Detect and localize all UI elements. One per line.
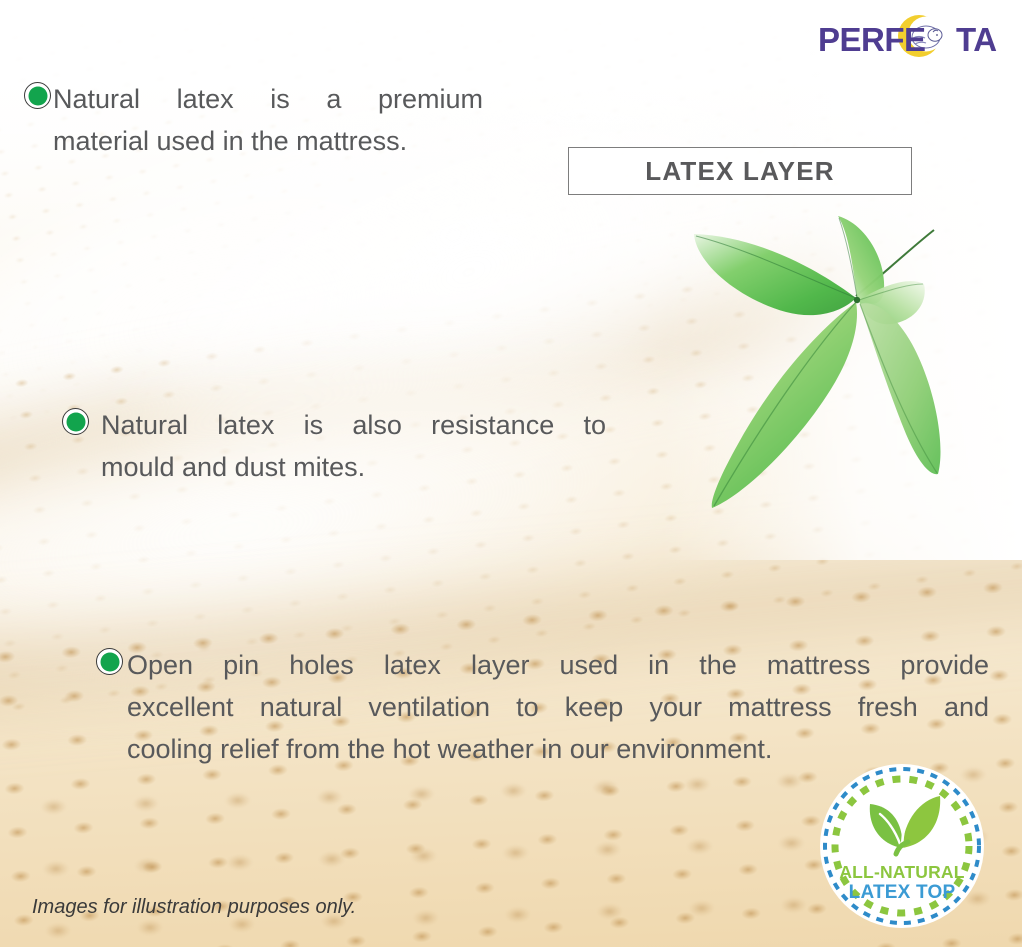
- all-natural-latex-top-seal: ALL-NATURAL LATEX TOP: [818, 762, 986, 930]
- seal-line-1: ALL-NATURAL: [839, 862, 964, 882]
- latex-layer-title-box: LATEX LAYER: [568, 147, 912, 195]
- seal-line-2: LATEX TOP: [849, 882, 956, 903]
- perfecta-logo: PERFE TA: [816, 14, 1006, 70]
- bullet-3-line-1: Open pin holes latex layer used in the m…: [127, 644, 989, 686]
- bullet-3-text: Open pin holes latex layer used in the m…: [127, 644, 989, 770]
- green-dot-bullet-icon: [24, 82, 51, 109]
- bullet-1-line-2: material used in the mattress.: [53, 120, 483, 162]
- disclaimer-text: Images for illustration purposes only.: [32, 896, 356, 919]
- bullet-item-1: Natural latex is a premium material used…: [24, 78, 502, 162]
- logo-wordmark-right: TA: [956, 21, 997, 58]
- bullet-3-line-2: excellent natural ventilation to keep yo…: [127, 686, 989, 728]
- bullet-2-line-1: Natural latex is also resistance to: [101, 404, 606, 446]
- green-dot-bullet-icon: [62, 408, 89, 435]
- bullet-item-3: Open pin holes latex layer used in the m…: [96, 644, 996, 770]
- page-title: LATEX LAYER: [645, 156, 834, 187]
- bullet-1-text: Natural latex is a premium material used…: [53, 78, 483, 162]
- bullet-item-2: Natural latex is also resistance to moul…: [62, 404, 622, 488]
- bullet-2-line-2: mould and dust mites.: [101, 446, 606, 488]
- right-white-fade: [662, 0, 1022, 560]
- logo-wordmark-left: PERFE: [818, 21, 926, 58]
- green-dot-bullet-icon: [96, 648, 123, 675]
- bullet-2-text: Natural latex is also resistance to moul…: [101, 404, 606, 488]
- latex-layer-poster: PERFE TA LATEX LAYER Natural latex is a …: [0, 0, 1022, 947]
- bullet-1-line-1: Natural latex is a premium: [53, 78, 483, 120]
